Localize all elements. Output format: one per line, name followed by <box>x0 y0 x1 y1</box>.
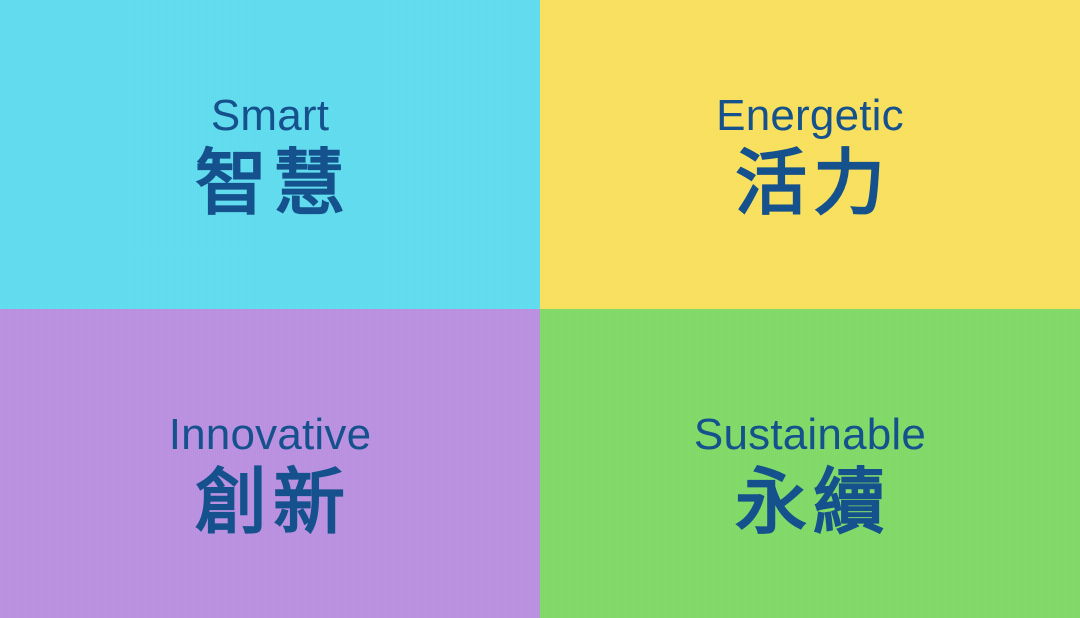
quadrant-smart-label-zh: 智慧 <box>189 148 351 220</box>
quadrant-energetic-text: Energetic 活力 <box>716 94 904 220</box>
quadrant-sustainable: Sustainable 永續 <box>540 309 1080 618</box>
quadrant-grid: Smart 智慧 Energetic 活力 Innovative 創新 Sust… <box>0 0 1080 618</box>
quadrant-energetic: Energetic 活力 <box>540 0 1080 309</box>
quadrant-smart-label-en: Smart <box>211 94 329 138</box>
quadrant-sustainable-label-zh: 永續 <box>729 467 891 539</box>
quadrant-smart: Smart 智慧 <box>0 0 540 309</box>
quadrant-energetic-label-zh: 活力 <box>729 148 891 220</box>
quadrant-smart-text: Smart 智慧 <box>189 94 351 220</box>
quadrant-innovative: Innovative 創新 <box>0 309 540 618</box>
quadrant-energetic-label-en: Energetic <box>716 94 904 138</box>
quadrant-innovative-label-en: Innovative <box>169 413 372 457</box>
brand-values-poster: Smart 智慧 Energetic 活力 Innovative 創新 Sust… <box>0 0 1080 618</box>
quadrant-sustainable-label-en: Sustainable <box>694 413 926 457</box>
quadrant-innovative-text: Innovative 創新 <box>169 413 372 539</box>
quadrant-innovative-label-zh: 創新 <box>189 467 351 539</box>
quadrant-sustainable-text: Sustainable 永續 <box>694 413 926 539</box>
